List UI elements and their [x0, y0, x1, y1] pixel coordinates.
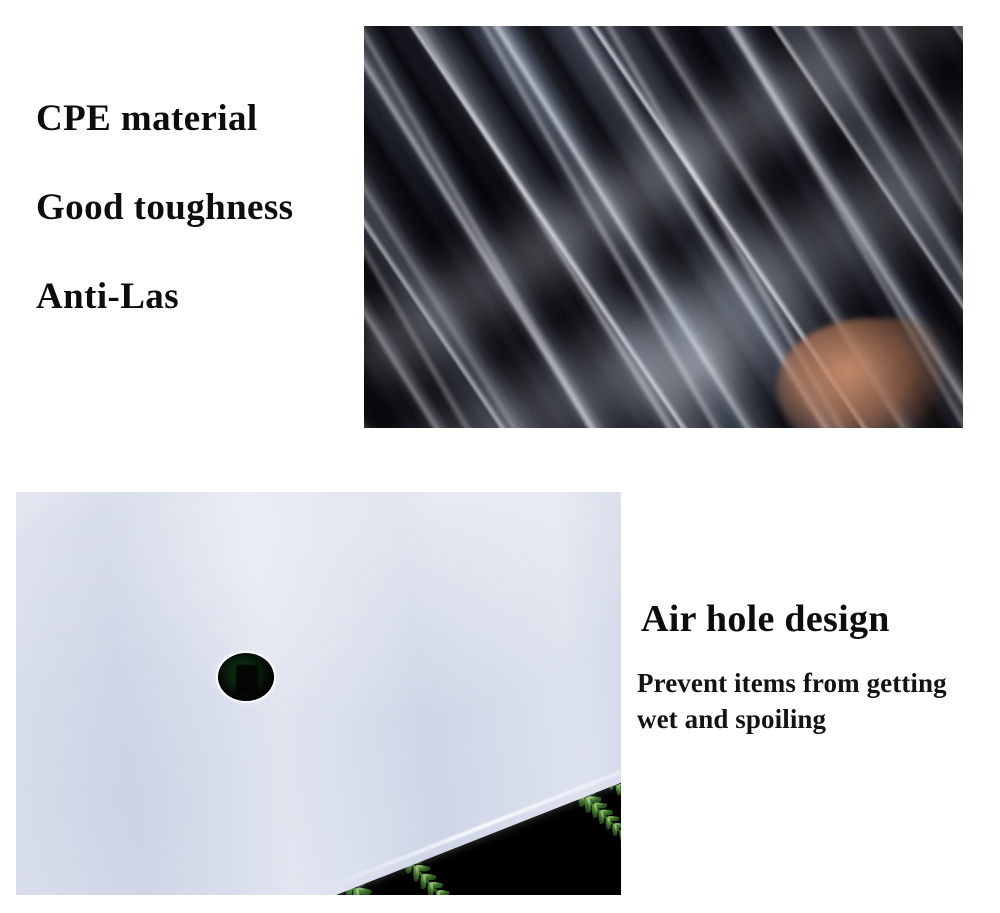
fern-leaflet: [618, 830, 621, 842]
clear-plastic-film-photo: [364, 26, 963, 428]
air-hole-subtext-line-1: Prevent items from getting: [637, 666, 986, 702]
air-hole-text-block: Air hole design Prevent items from getti…: [641, 600, 986, 738]
feature-item-anti-las: Anti-Las: [36, 278, 346, 315]
frosted-bag-air-hole-photo: [16, 492, 621, 895]
feature-item-cpe-material: CPE material: [36, 100, 346, 137]
air-hole-heading: Air hole design: [641, 600, 986, 638]
film-feature-list: CPE material Good toughness Anti-Las: [36, 100, 346, 315]
air-hole-shadow: [236, 665, 258, 695]
air-hole: [218, 653, 274, 701]
air-hole-subtext: Prevent items from getting wet and spoil…: [637, 666, 986, 738]
feature-item-good-toughness: Good toughness: [36, 189, 346, 226]
section-film-features: CPE material Good toughness Anti-Las: [0, 0, 1000, 460]
section-air-hole-design: Air hole design Prevent items from getti…: [0, 460, 1000, 913]
air-hole-subtext-line-2: wet and spoiling: [637, 702, 986, 738]
